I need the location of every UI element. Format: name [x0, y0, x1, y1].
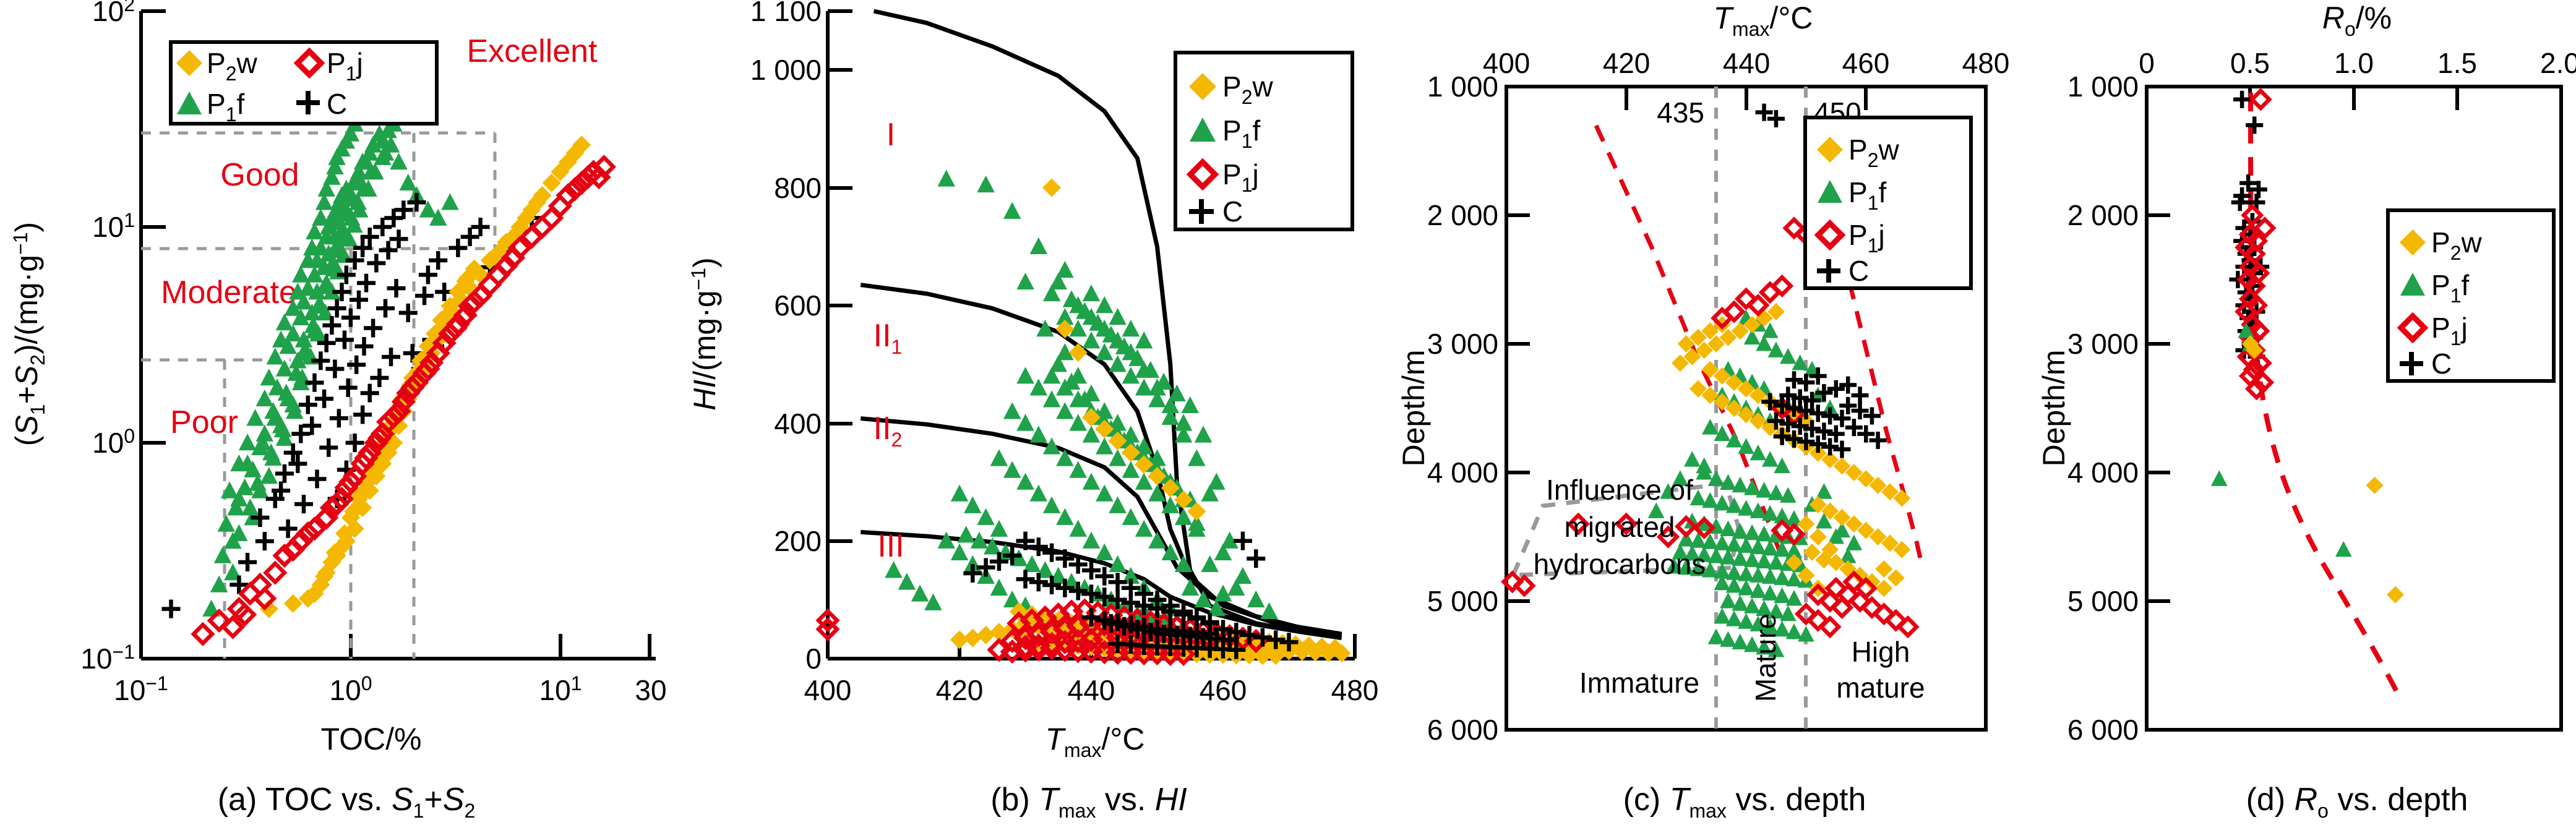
panel-c-vline-label-435: 435 — [1657, 96, 1704, 129]
panel-d-ytick-5000: 5 000 — [2067, 585, 2139, 617]
panel-b-caption: (b) Tmax vs. HI — [990, 782, 1187, 822]
panel-a-caption: (a) TOC vs. S1+S2 — [218, 782, 476, 822]
panel-b-svg: I II1 II2 III 1 100 1 000 800 600 400 20… — [662, 0, 1392, 825]
panel-b-ytick-800: 800 — [774, 172, 822, 204]
legend-label-c: C — [2431, 348, 2452, 380]
legend-label-p1j: P1j — [1222, 158, 1259, 196]
kerogen-boundary — [861, 285, 1341, 634]
legend-label-p1j: P1j — [1848, 219, 1885, 257]
panel-c-yaxis-label: Depth/m — [1396, 350, 1431, 467]
annotation-mature: Mature — [1750, 613, 1782, 702]
zone-label-iii: III — [877, 528, 904, 564]
panel-b-ytick-400: 400 — [774, 408, 822, 440]
panel-c-svg: 435 450 Influence of migrated hydrocarbo… — [1392, 0, 2029, 825]
panel-d-xtick-0: 0 — [2139, 47, 2155, 79]
figure-root: Excellent Good Moderate Poor 102 101 100… — [0, 0, 2576, 825]
panel-c-xtick-480: 480 — [1962, 47, 2010, 79]
panel-d-xtick-05: 0.5 — [2230, 47, 2270, 79]
panel-d-ytick-2000: 2 000 — [2067, 199, 2139, 231]
ro-depth-trend-line — [2251, 93, 2400, 699]
panel-b-ytick-1000: 1 000 — [750, 54, 822, 86]
panel-d-xtick-15: 1.5 — [2437, 47, 2477, 79]
legend-label-p1j: P1j — [327, 47, 363, 85]
panel-a-xaxis-label: TOC/% — [321, 722, 422, 756]
panel-d-axes — [2147, 87, 2561, 730]
panel-b-legend[interactable]: P2w P1f P1j C — [1175, 53, 1352, 229]
panel-b: I II1 II2 III 1 100 1 000 800 600 400 20… — [662, 0, 1392, 825]
panel-a-svg: Excellent Good Moderate Poor 102 101 100… — [0, 0, 662, 825]
region-label-poor: Poor — [170, 404, 238, 440]
panel-a-xtick-2: 101 — [539, 672, 582, 706]
panel-c-ytick-2000: 2 000 — [1427, 199, 1498, 231]
region-label-good: Good — [220, 157, 299, 193]
panel-c-ytick-3000: 3 000 — [1427, 328, 1498, 360]
panel-b-xaxis-label: Tmax/°C — [1045, 722, 1145, 761]
legend-label-c: C — [327, 88, 347, 120]
panel-a-xtick-0: 10−1 — [114, 672, 168, 706]
panel-b-xtick-420: 420 — [936, 674, 984, 706]
panel-d-legend[interactable]: P2w P1f P1j C — [2388, 210, 2554, 381]
panel-d-datapoints — [2211, 91, 2404, 604]
panel-b-xtick-480: 480 — [1331, 674, 1379, 706]
panel-c-legend[interactable]: P2w P1f P1j C — [1805, 118, 1971, 288]
region-label-excellent: Excellent — [467, 33, 598, 69]
panel-d-yaxis-label: Depth/m — [2037, 350, 2071, 467]
panel-c-ytick-6000: 6 000 — [1427, 714, 1498, 746]
panel-a-ytick-1: 100 — [92, 425, 135, 459]
panel-d-svg: 0 0.5 1.0 1.5 2.0 1 000 2 000 3 000 4 00… — [2029, 0, 2576, 825]
panel-b-ytick-200: 200 — [774, 525, 822, 557]
panel-b-ytick-1100: 1 100 — [750, 0, 822, 27]
panel-b-datapoints — [818, 169, 1351, 665]
panel-a-ytick-3: 102 — [92, 0, 135, 27]
annotation-mature2: mature — [1836, 672, 1925, 704]
panel-d-caption: (d) Ro vs. depth — [2246, 782, 2468, 822]
panel-a-ytick-2: 101 — [92, 209, 135, 243]
annotation-influence-line2: migrated — [1565, 511, 1675, 543]
panel-c-caption: (c) Tmax vs. depth — [1623, 782, 1866, 822]
panel-b-xtick-460: 460 — [1200, 674, 1247, 706]
panel-b-yaxis-label: HI/(mg·g−1) — [687, 257, 722, 411]
panel-c: 435 450 Influence of migrated hydrocarbo… — [1392, 0, 2029, 825]
zone-label-i: I — [887, 117, 895, 153]
panel-c-ytick-4000: 4 000 — [1427, 456, 1498, 489]
panel-c-xtick-440: 440 — [1723, 47, 1771, 79]
panel-b-ytick-600: 600 — [774, 289, 822, 322]
panel-a-legend[interactable]: P2w P1j P1f C — [171, 42, 437, 126]
panel-b-ytick-0: 0 — [805, 643, 822, 675]
panel-c-xtick-460: 460 — [1842, 47, 1890, 79]
panel-d-xtick-20: 2.0 — [2540, 47, 2576, 79]
annotation-influence-line1: Influence of — [1546, 474, 1693, 506]
annotation-influence-line3: hydrocarbons — [1534, 548, 1706, 580]
panel-c-xaxis-label: Tmax/°C — [1714, 1, 1813, 40]
panel-d: 0 0.5 1.0 1.5 2.0 1 000 2 000 3 000 4 00… — [2029, 0, 2576, 825]
panel-d-ytick-1000: 1 000 — [2067, 71, 2139, 103]
zone-label-ii2: II2 — [874, 411, 903, 451]
panel-d-xtick-10: 1.0 — [2334, 47, 2374, 79]
panel-a: Excellent Good Moderate Poor 102 101 100… — [0, 0, 662, 825]
panel-c-xtick-420: 420 — [1603, 47, 1651, 79]
region-label-moderate: Moderate — [161, 275, 297, 310]
panel-a-ytick-0: 10−1 — [80, 641, 135, 675]
legend-label-c: C — [1222, 195, 1243, 228]
panel-d-ytick-4000: 4 000 — [2067, 456, 2139, 489]
panel-d-ytick-3000: 3 000 — [2067, 328, 2139, 360]
legend-label-c: C — [1848, 255, 1869, 287]
panel-d-ytick-6000: 6 000 — [2067, 714, 2139, 746]
panel-b-xtick-440: 440 — [1068, 674, 1115, 706]
annotation-immature: Immature — [1579, 667, 1699, 699]
zone-label-ii1: II1 — [874, 318, 903, 358]
legend-label-p1j: P1j — [2431, 312, 2468, 349]
panel-c-ytick-1000: 1 000 — [1427, 71, 1498, 103]
panel-a-yaxis-label: (S1+S2)/(mg·g−1) — [9, 222, 49, 446]
annotation-high: High — [1852, 636, 1910, 668]
panel-d-xaxis-label: Ro/% — [2322, 1, 2392, 40]
panel-b-xtick-400: 400 — [804, 674, 852, 706]
panel-a-xtick-1: 100 — [330, 672, 372, 706]
panel-c-ytick-5000: 5 000 — [1427, 585, 1498, 617]
